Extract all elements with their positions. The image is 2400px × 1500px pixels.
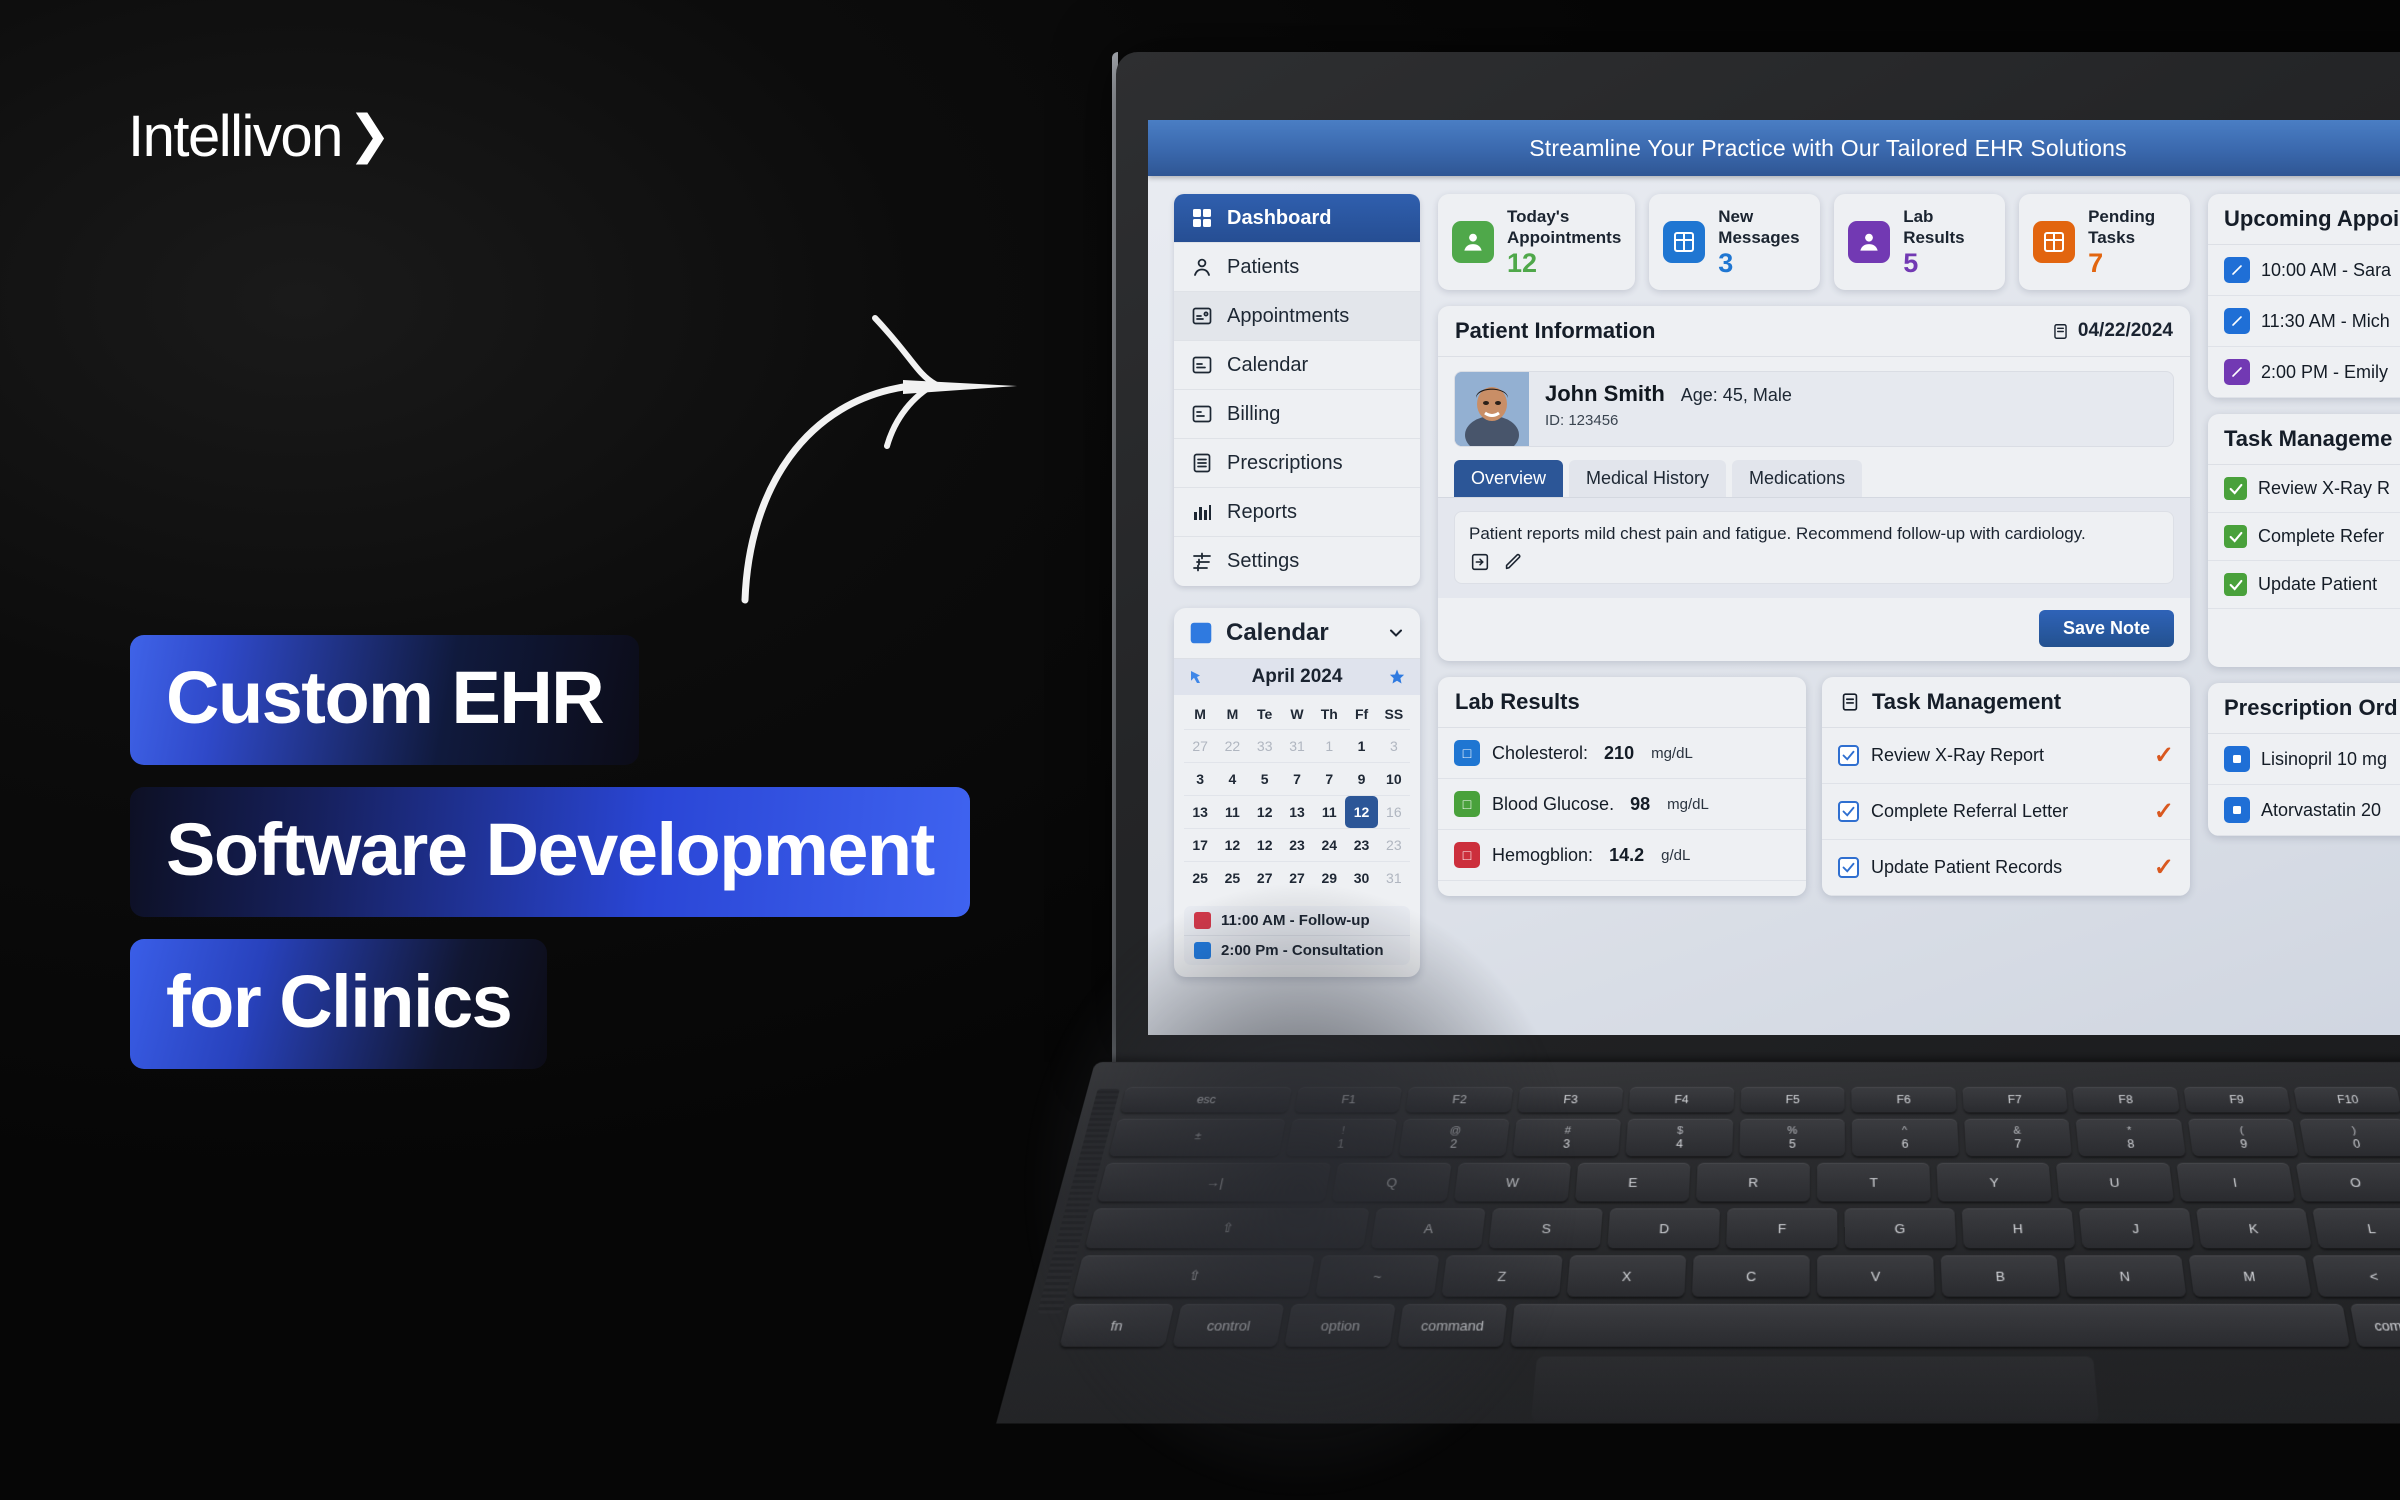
rail-task-label: Complete Refer	[2258, 526, 2384, 547]
key-z[interactable]: Z	[1441, 1255, 1563, 1296]
calendar-event[interactable]: 2:00 Pm - Consultation	[1184, 936, 1410, 965]
stat-card-value: 7	[2088, 249, 2176, 279]
calendar-week: 13111213111216	[1184, 795, 1410, 828]
calendar-day[interactable]: 12	[1249, 796, 1281, 828]
key-f3[interactable]: F3	[1517, 1087, 1623, 1112]
key-top-glyph: !	[1341, 1126, 1346, 1136]
task-label: Complete Referral Letter	[1871, 801, 2142, 822]
stat-card-value: 3	[1718, 249, 1806, 279]
key-u[interactable]: U	[2056, 1163, 2173, 1202]
key-⇧[interactable]: ⇧	[1085, 1208, 1369, 1248]
prescription-text: Atorvastatin 20	[2261, 800, 2381, 821]
key-bottom-glyph: 7	[2014, 1138, 2022, 1149]
key-7[interactable]: &7	[1964, 1119, 2072, 1156]
people-icon	[1452, 221, 1494, 263]
stat-card-label: Pending Tasks	[2088, 206, 2176, 249]
sidebar-item-billing[interactable]: Billing	[1174, 390, 1420, 439]
patient-age-sex: Age: 45, Male	[1681, 385, 1792, 406]
prev-arrow-icon[interactable]	[1188, 668, 1206, 686]
key-space[interactable]	[1510, 1304, 2350, 1347]
appointment-text: 2:00 PM - Emily	[2261, 362, 2388, 383]
key-2[interactable]: @2	[1399, 1119, 1509, 1156]
task-done-check: ✓	[2154, 853, 2174, 882]
calendar-widget: Calendar April 2024	[1174, 608, 1420, 977]
lab-result-unit: mg/dL	[1667, 796, 1709, 813]
rail-task-row[interactable]: Update Patient	[2208, 561, 2400, 609]
key-v[interactable]: V	[1817, 1255, 1935, 1296]
keyboard: escF1F2F3F4F5F6F7F8F9F10F11 ±!1@2#3$4%5^…	[1057, 1087, 2400, 1354]
stat-card-value: 12	[1507, 249, 1621, 279]
rail-task-spacer	[2208, 609, 2400, 667]
note-toolbar	[1469, 551, 2159, 573]
rail-task-checkbox[interactable]	[2224, 573, 2247, 596]
stat-card-text: Pending Tasks7	[2088, 206, 2176, 278]
key-f4[interactable]: F4	[1629, 1087, 1734, 1112]
key-t[interactable]: T	[1817, 1163, 1931, 1202]
calendar-day[interactable]: 25	[1184, 862, 1216, 894]
key-top-glyph: (	[2239, 1126, 2244, 1136]
sidebar-item-reports[interactable]: Reports	[1174, 488, 1420, 537]
key-top-glyph: #	[1564, 1126, 1571, 1136]
patient-card-date: 04/22/2024	[2051, 320, 2173, 342]
sidebar-item-prescriptions[interactable]: Prescriptions	[1174, 439, 1420, 488]
key-f8[interactable]: F8	[2073, 1087, 2180, 1112]
lab-result-badge: □	[1454, 791, 1480, 817]
rail-task-list: Review X-Ray RComplete ReferUpdate Patie…	[2208, 465, 2400, 609]
tab-overview[interactable]: Overview	[1454, 460, 1563, 497]
calendar-day[interactable]: 25	[1216, 862, 1248, 894]
calendar-day[interactable]: 30	[1345, 862, 1377, 894]
calendar-day[interactable]: 23	[1281, 829, 1313, 861]
patient-information-card: Patient Information 04/22/2024	[1438, 306, 2190, 661]
chevron-down-icon[interactable]	[1386, 623, 1406, 643]
stat-card-text: New Messages3	[1718, 206, 1806, 278]
rail-task-management-card: Task Manageme Review X-Ray RComplete Ref…	[2208, 414, 2400, 667]
key-d[interactable]: D	[1608, 1208, 1721, 1248]
key-f10[interactable]: F10	[2294, 1087, 2400, 1112]
lab-result-name: Hemogblion:	[1492, 845, 1593, 866]
headline-line-2: Software Development	[130, 787, 970, 917]
calendar-weeks: 2722333111334577910131112131112161712122…	[1184, 729, 1410, 894]
stat-card-2[interactable]: Lab Results5	[1834, 194, 2005, 290]
task-label: Update Patient Records	[1871, 857, 2142, 878]
stat-cards: Today's Appointments12New Messages3Lab R…	[1438, 194, 2190, 290]
key-l[interactable]: L	[2313, 1208, 2400, 1248]
brand-name: Intellivon	[128, 108, 342, 166]
upcoming-appointments-card: Upcoming Appoi 10:00 AM - Sara11:30 AM -…	[2208, 194, 2400, 398]
key-top-glyph: ±	[1194, 1131, 1203, 1141]
calendar-widget-title: Calendar	[1226, 619, 1374, 647]
task-row[interactable]: Complete Referral Letter✓	[1822, 784, 2190, 840]
key-y[interactable]: Y	[1937, 1163, 2053, 1202]
calendar-week: 17121223242323	[1184, 828, 1410, 861]
key-⇧[interactable]: ⇧	[1072, 1255, 1315, 1296]
sidebar-item-label: Prescriptions	[1227, 452, 1343, 475]
patient-summary: John Smith Age: 45, Male ID: 123456	[1454, 371, 2174, 447]
key-<[interactable]: <	[2312, 1255, 2400, 1296]
right-rail: Upcoming Appoi 10:00 AM - Sara11:30 AM -…	[2208, 194, 2400, 977]
calendar-grid: MMTeWThFfSS 2722333111334577910131112131…	[1174, 695, 1420, 902]
stat-card-text: Lab Results5	[1903, 206, 1991, 278]
task-checkbox[interactable]	[1838, 857, 1859, 878]
calendar-dow: Th	[1313, 699, 1345, 729]
patient-id: ID: 123456	[1545, 412, 1792, 429]
calendar-day[interactable]: 11	[1216, 796, 1248, 828]
calendar-day[interactable]: 3	[1184, 763, 1216, 795]
calendar-day[interactable]: 31	[1378, 862, 1410, 894]
sidebar-item-patients[interactable]: Patients	[1174, 243, 1420, 292]
key-9[interactable]: (9	[2187, 1119, 2298, 1156]
task-row[interactable]: Update Patient Records✓	[1822, 840, 2190, 896]
calendar-dow: M	[1184, 699, 1216, 729]
patient-tabs: Overview Medical History Medications	[1454, 460, 2174, 497]
settings-icon	[1190, 550, 1214, 574]
sidebar-item-label: Patients	[1227, 256, 1299, 279]
stat-card-0[interactable]: Today's Appointments12	[1438, 194, 1635, 290]
calendar-day[interactable]: 10	[1378, 763, 1410, 795]
bar-chart-icon	[1190, 500, 1214, 524]
sidebar-item-dashboard[interactable]: Dashboard	[1174, 194, 1420, 243]
stat-card-3[interactable]: Pending Tasks7	[2019, 194, 2190, 290]
key-s[interactable]: S	[1489, 1208, 1603, 1248]
calendar-dow: W	[1281, 699, 1313, 729]
appointment-icon	[2224, 257, 2250, 283]
headline-line-1: Custom EHR	[130, 635, 639, 765]
patient-card-header: Patient Information 04/22/2024	[1438, 306, 2190, 357]
key-top-glyph: &	[2013, 1126, 2021, 1136]
key-0[interactable]: )0	[2299, 1119, 2400, 1156]
calendar-day[interactable]: 7	[1281, 763, 1313, 795]
appointment-icon	[2224, 359, 2250, 385]
chevron-right-icon: ❯	[348, 109, 392, 161]
calendar-day[interactable]: 27	[1184, 730, 1216, 762]
key-±[interactable]: ±	[1109, 1119, 1286, 1156]
grid-icon	[1190, 206, 1214, 230]
lab-result-value: 98	[1630, 794, 1650, 815]
lab-result-row: □Hemogblion:14.2g/dL	[1438, 830, 1806, 881]
patient-meta: John Smith Age: 45, Male ID: 123456	[1529, 372, 1792, 446]
calendar-widget-header[interactable]: Calendar	[1174, 608, 1420, 659]
task-management-title-wrap: Task Management	[1839, 689, 2061, 715]
sidebar-item-label: Reports	[1227, 501, 1297, 524]
task-label: Review X-Ray Report	[1871, 745, 2142, 766]
grid-icon	[1188, 620, 1214, 646]
calendar-day[interactable]: 11	[1313, 796, 1345, 828]
stat-card-label: Lab Results	[1903, 206, 1991, 249]
lab-result-row: □Blood Glucose.98mg/dL	[1438, 779, 1806, 830]
calendar-dow: Ff	[1345, 699, 1377, 729]
keyboard-qwerty-row: →|QWERTYUIOP	[1097, 1163, 2400, 1202]
key-1[interactable]: !1	[1286, 1119, 1398, 1156]
calendar-day[interactable]: 12	[1345, 796, 1377, 828]
rail-task-title: Task Manageme	[2224, 426, 2392, 452]
lab-result-name: Cholesterol:	[1492, 743, 1588, 764]
lab-results-title: Lab Results	[1455, 689, 1580, 715]
key-k[interactable]: K	[2196, 1208, 2313, 1248]
prescription-orders-list: Lisinopril 10 mgAtorvastatin 20	[2208, 734, 2400, 836]
prescription-row[interactable]: Atorvastatin 20	[2208, 785, 2400, 836]
rail-task-checkbox[interactable]	[2224, 525, 2247, 548]
document-icon	[1190, 451, 1214, 475]
calendar-event-text: 2:00 Pm - Consultation	[1221, 942, 1384, 959]
key-f5[interactable]: F5	[1740, 1087, 1844, 1112]
calendar-week: 34577910	[1184, 762, 1410, 795]
tab-medications[interactable]: Medications	[1732, 460, 1862, 497]
calendar-day[interactable]: 16	[1378, 796, 1410, 828]
rail-task-label: Review X-Ray R	[2258, 478, 2390, 499]
poster-canvas: Intellivon ❯ Custom EHR Software Develop…	[0, 0, 2400, 1500]
key-~[interactable]: ~	[1315, 1255, 1438, 1296]
key-bottom-glyph: 4	[1676, 1138, 1683, 1149]
note-band: Patient reports mild chest pain and fati…	[1438, 497, 2190, 598]
calendar-day[interactable]: 4	[1216, 763, 1248, 795]
trackpad[interactable]	[1531, 1357, 2099, 1422]
prescription-icon	[2224, 797, 2250, 823]
keyboard-modifier-row: fncontroloptioncommandcommand⌃	[1059, 1304, 2400, 1347]
lab-result-value: 14.2	[1609, 845, 1644, 866]
key-f9[interactable]: F9	[2183, 1087, 2291, 1112]
calendar-day[interactable]: 13	[1281, 796, 1313, 828]
lab-result-badge: □	[1454, 740, 1480, 766]
appointment-text: 10:00 AM - Sara	[2261, 260, 2391, 281]
key-o[interactable]: O	[2295, 1163, 2400, 1202]
key-f2[interactable]: F2	[1406, 1087, 1513, 1112]
lab-result-row: □Cholesterol:210mg/dL	[1438, 728, 1806, 779]
calendar-day[interactable]: 23	[1378, 829, 1410, 861]
stat-card-label: Today's Appointments	[1507, 206, 1621, 249]
keyboard-bottom-row: ⇧~ZXCVBNM<>	[1072, 1255, 2400, 1296]
clipboard-icon	[1839, 691, 1861, 713]
rail-task-label: Update Patient	[2258, 574, 2377, 595]
sidebar-item-appointments[interactable]: Appointments	[1174, 292, 1420, 341]
key-→|[interactable]: →|	[1097, 1163, 1332, 1202]
key-h[interactable]: H	[1962, 1208, 2075, 1248]
stat-card-value: 5	[1903, 249, 1991, 279]
sidebar-item-label: Billing	[1227, 403, 1280, 426]
patient-card-date-text: 04/22/2024	[2078, 320, 2173, 342]
appointment-row[interactable]: 2:00 PM - Emily	[2208, 347, 2400, 398]
calendar-month-label: April 2024	[1252, 666, 1343, 688]
upcoming-appointments-list: 10:00 AM - Sara11:30 AM - Mich2:00 PM - …	[2208, 245, 2400, 398]
rail-task-checkbox[interactable]	[2224, 477, 2247, 500]
clinical-note-text: Patient reports mild chest pain and fati…	[1469, 524, 2159, 544]
key-g[interactable]: G	[1845, 1208, 1957, 1248]
key-i[interactable]: I	[2176, 1163, 2295, 1202]
key-b[interactable]: B	[1941, 1255, 2061, 1296]
calendar-day[interactable]: 33	[1249, 730, 1281, 762]
upcoming-appointments-header: Upcoming Appoi	[2208, 194, 2400, 245]
calendar-day[interactable]: 3	[1378, 730, 1410, 762]
calendar-day[interactable]: 23	[1345, 829, 1377, 861]
key-q[interactable]: Q	[1332, 1163, 1451, 1202]
rail-task-row[interactable]: Complete Refer	[2208, 513, 2400, 561]
sidebar-item-label: Dashboard	[1227, 207, 1331, 230]
key-bottom-glyph: 9	[2239, 1138, 2248, 1149]
sidebar-item-calendar[interactable]: Calendar	[1174, 341, 1420, 390]
grid-icon	[2033, 221, 2075, 263]
key-j[interactable]: J	[2079, 1208, 2194, 1248]
task-management-header: Task Management	[1822, 677, 2190, 728]
appointment-row[interactable]: 10:00 AM - Sara	[2208, 245, 2400, 296]
calendar-month-bar: April 2024	[1174, 659, 1420, 695]
appointment-icon	[1190, 304, 1214, 328]
laptop-base: escF1F2F3F4F5F6F7F8F9F10F11 ±!1@2#3$4%5^…	[996, 1062, 2400, 1424]
key-x[interactable]: X	[1566, 1255, 1686, 1296]
sidebar-nav: Dashboard Patients Appointments	[1174, 194, 1420, 586]
calendar-dow: M	[1216, 699, 1248, 729]
key-a[interactable]: A	[1370, 1208, 1486, 1248]
key-command[interactable]: command	[1397, 1304, 1507, 1347]
prescription-row[interactable]: Lisinopril 10 mg	[2208, 734, 2400, 785]
person-icon	[1190, 255, 1214, 279]
key-bottom-glyph: 3	[1563, 1138, 1571, 1149]
patient-card-title: Patient Information	[1455, 318, 1655, 344]
task-checkbox[interactable]	[1838, 801, 1859, 822]
main-content: Today's Appointments12New Messages3Lab R…	[1438, 194, 2190, 977]
key-top-glyph: *	[2127, 1126, 2133, 1136]
prescription-text: Lisinopril 10 mg	[2261, 749, 2387, 770]
lab-results-header: Lab Results	[1438, 677, 1806, 728]
task-done-check: ✓	[2154, 741, 2174, 770]
lab-results-list: □Cholesterol:210mg/dL□Blood Glucose.98mg…	[1438, 728, 1806, 881]
key-f[interactable]: F	[1726, 1208, 1837, 1248]
task-done-check: ✓	[2154, 797, 2174, 826]
headline-line-3: for Clinics	[130, 939, 547, 1069]
calendar-dow: Te	[1249, 699, 1281, 729]
calendar-icon	[1190, 353, 1214, 377]
appointment-icon	[2224, 308, 2250, 334]
people-icon	[1848, 221, 1890, 263]
stat-card-label: New Messages	[1718, 206, 1806, 249]
clinical-note[interactable]: Patient reports mild chest pain and fati…	[1454, 511, 2174, 584]
key-fn[interactable]: fn	[1059, 1304, 1173, 1347]
task-row[interactable]: Review X-Ray Report✓	[1822, 728, 2190, 784]
grid-icon	[1663, 221, 1705, 263]
calendar-event[interactable]: 11:00 AM - Follow-up	[1184, 906, 1410, 936]
calendar-day[interactable]: 22	[1216, 730, 1248, 762]
save-note-button[interactable]: Save Note	[2039, 610, 2174, 647]
key-top-glyph: ^	[1902, 1126, 1908, 1136]
calendar-day[interactable]: 17	[1184, 829, 1216, 861]
sidebar-item-label: Calendar	[1227, 354, 1308, 377]
key-n[interactable]: N	[2064, 1255, 2185, 1296]
calendar-event-text: 11:00 AM - Follow-up	[1221, 912, 1370, 929]
calendar-day[interactable]: 13	[1184, 796, 1216, 828]
keyboard-number-row: ±!1@2#3$4%5^6&7*8(9)0_-	[1109, 1119, 2400, 1156]
sidebar-item-label: Appointments	[1227, 305, 1349, 328]
event-color-swatch	[1194, 942, 1211, 959]
key-top-glyph: %	[1787, 1126, 1797, 1136]
calendar-day[interactable]: 12	[1249, 829, 1281, 861]
key-6[interactable]: ^6	[1852, 1119, 1959, 1156]
avatar	[1455, 372, 1529, 446]
pencil-icon[interactable]	[1502, 551, 1524, 573]
curved-arrow-icon	[735, 300, 1025, 610]
key-5[interactable]: %5	[1739, 1119, 1845, 1156]
sidebar-item-settings[interactable]: Settings	[1174, 537, 1420, 586]
star-icon[interactable]	[1388, 668, 1406, 686]
key-f7[interactable]: F7	[1962, 1087, 2068, 1112]
event-color-swatch	[1194, 912, 1211, 929]
prescription-orders-card: Prescription Ord Lisinopril 10 mgAtorvas…	[2208, 683, 2400, 836]
task-management-title: Task Management	[1872, 689, 2061, 715]
lab-results-card: Lab Results □Cholesterol:210mg/dL□Blood …	[1438, 677, 1806, 896]
calendar-week: 27223331113	[1184, 729, 1410, 762]
stat-card-1[interactable]: New Messages3	[1649, 194, 1820, 290]
calendar-day[interactable]: 1	[1345, 730, 1377, 762]
key-8[interactable]: *8	[2076, 1119, 2186, 1156]
key-3[interactable]: #3	[1512, 1119, 1621, 1156]
calendar-day[interactable]: 7	[1313, 763, 1345, 795]
sidebar-item-label: Settings	[1227, 550, 1299, 573]
appointment-text: 11:30 AM - Mich	[2261, 311, 2390, 332]
calendar-day[interactable]: 27	[1249, 862, 1281, 894]
key-top-glyph: $	[1677, 1126, 1684, 1136]
appointment-row[interactable]: 11:30 AM - Mich	[2208, 296, 2400, 347]
calendar-day[interactable]: 12	[1216, 829, 1248, 861]
keyboard-home-row: ⇧ASDFGHJKL:	[1085, 1208, 2400, 1248]
calendar-day[interactable]: 29	[1313, 862, 1345, 894]
insert-icon[interactable]	[1469, 551, 1491, 573]
key-top-glyph: )	[2351, 1126, 2357, 1136]
key-command[interactable]: command	[2350, 1304, 2400, 1347]
lab-result-unit: mg/dL	[1651, 745, 1693, 762]
key-bottom-glyph: 1	[1336, 1138, 1345, 1149]
key-control[interactable]: control	[1172, 1304, 1285, 1347]
calendar-day[interactable]: 31	[1281, 730, 1313, 762]
tab-medical-history[interactable]: Medical History	[1569, 460, 1726, 497]
calendar-day[interactable]: 1	[1313, 730, 1345, 762]
key-f6[interactable]: F6	[1852, 1087, 1957, 1112]
calendar-day[interactable]: 9	[1345, 763, 1377, 795]
calendar-week: 25252727293031	[1184, 861, 1410, 894]
calendar-day[interactable]: 24	[1313, 829, 1345, 861]
key-bottom-glyph: 2	[1450, 1138, 1458, 1149]
key-r[interactable]: R	[1696, 1163, 1810, 1202]
key-f1[interactable]: F1	[1294, 1087, 1402, 1112]
prescription-orders-header: Prescription Ord	[2208, 683, 2400, 734]
key-m[interactable]: M	[2188, 1255, 2311, 1296]
key-4[interactable]: $4	[1626, 1119, 1733, 1156]
page-title: Custom EHR Software Development for Clin…	[130, 635, 970, 1069]
task-checkbox[interactable]	[1838, 745, 1859, 766]
key-esc[interactable]: esc	[1120, 1087, 1292, 1112]
rail-task-row[interactable]: Review X-Ray R	[2208, 465, 2400, 513]
rail-task-header: Task Manageme	[2208, 414, 2400, 465]
key-w[interactable]: W	[1453, 1163, 1570, 1202]
key-top-glyph: @	[1449, 1126, 1462, 1136]
key-option[interactable]: option	[1285, 1304, 1396, 1347]
lab-result-badge: □	[1454, 842, 1480, 868]
calendar-day[interactable]: 27	[1281, 862, 1313, 894]
save-bar: Save Note	[1438, 598, 2190, 661]
stat-card-text: Today's Appointments12	[1507, 206, 1621, 278]
key-bottom-glyph: 8	[2127, 1138, 2135, 1149]
key-e[interactable]: E	[1575, 1163, 1691, 1202]
prescription-icon	[2224, 746, 2250, 772]
calendar-dow-row: MMTeWThFfSS	[1184, 699, 1410, 729]
key-bottom-glyph: 0	[2352, 1138, 2361, 1149]
laptop-screen: Streamline Your Practice with Our Tailor…	[1148, 120, 2400, 1035]
key-bottom-glyph: 6	[1902, 1138, 1909, 1149]
lab-result-name: Blood Glucose.	[1492, 794, 1614, 815]
key-bottom-glyph: 5	[1789, 1138, 1796, 1149]
calendar-day[interactable]: 5	[1249, 763, 1281, 795]
lab-result-value: 210	[1604, 743, 1634, 764]
key-c[interactable]: C	[1692, 1255, 1810, 1296]
lab-result-unit: g/dL	[1661, 847, 1690, 864]
clipboard-icon	[2051, 322, 2070, 341]
